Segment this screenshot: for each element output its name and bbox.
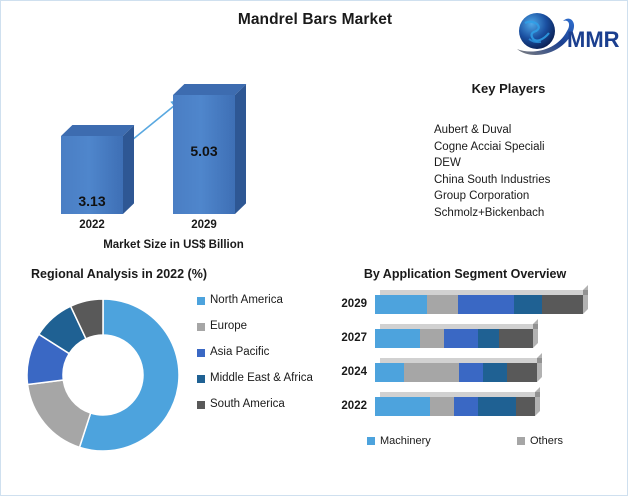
stacked-bar-year: 2022 [337,400,367,412]
bar-2022-value: 3.13 [61,193,123,209]
stacked-bar-segment-machinery [375,329,420,348]
stacked-bar-row: 2024 [337,359,623,393]
stacked-bar-segment-segment-4 [478,397,516,416]
stacked-bar-year: 2027 [337,332,367,344]
stacked-bar-segment-segment-3 [459,363,483,382]
stacked-bar-segment-segment-3 [458,295,515,314]
key-players-panel: Key Players Aubert & Duval Cogne Acciai … [396,81,621,221]
legend-label: Others [530,435,563,447]
stacked-bar-row: 2022 [337,393,623,427]
key-player-item: Group Corporation [434,188,621,205]
legend-label: Machinery [380,435,431,447]
stacked-bar-segment-machinery [375,397,430,416]
regional-legend: North America Europe Asia Pacific Middle… [197,293,327,423]
legend-label: North America [210,293,283,308]
bar-2022-year: 2022 [55,219,129,231]
stacked-bar-segment-segment-4 [483,363,507,382]
stacked-bar-segment-others [420,329,444,348]
bar-2029-value: 5.03 [173,143,235,159]
legend-item-europe: Europe [197,319,327,334]
legend-swatch-icon [197,323,205,331]
application-stacked-bars: 2029 2027 2024 2022 [337,291,623,427]
stacked-bar-track [375,329,533,348]
legend-label: Middle East & Africa [210,371,322,386]
stacked-bar-body [375,363,537,382]
stacked-bar-track [375,397,535,416]
stacked-bar-side-face [533,319,538,348]
stacked-bar-segment-segment-3 [444,329,478,348]
stacked-bar-segment-others [430,397,454,416]
regional-analysis-title: Regional Analysis in 2022 (%) [31,267,331,281]
stacked-bar-body [375,329,533,348]
legend-swatch-icon [197,297,205,305]
legend-item-machinery: Machinery [367,435,517,447]
key-player-item: Aubert & Duval [434,122,621,139]
legend-item-south-america: South America [197,397,327,412]
bar-2029-year: 2029 [167,219,241,231]
mmr-logo: MMR [511,9,619,61]
key-players-list: Aubert & Duval Cogne Acciai Speciali DEW… [396,122,621,221]
stacked-bar-track [375,363,537,382]
key-player-item: Schmolz+Bickenbach [434,205,621,222]
regional-analysis-panel: Regional Analysis in 2022 (%) North Amer… [31,267,331,281]
regional-donut-chart [19,291,187,459]
stacked-bar-segment-segment-5 [516,397,535,416]
legend-label: Asia Pacific [210,345,269,360]
key-player-item: China South Industries [434,172,621,189]
stacked-bar-body [375,397,535,416]
stacked-bar-row: 2029 [337,291,623,325]
stacked-bar-side-face [537,353,542,382]
stacked-bar-side-face [535,387,540,416]
stacked-bar-body [375,295,583,314]
legend-item-asia-pacific: Asia Pacific [197,345,327,360]
stacked-bar-segment-segment-5 [507,363,536,382]
legend-item-north-america: North America [197,293,327,308]
stacked-bar-year: 2024 [337,366,367,378]
stacked-bar-segment-others [404,363,459,382]
key-player-item: DEW [434,155,621,172]
donut-slice-europe [28,380,91,447]
stacked-bar-segment-segment-4 [478,329,499,348]
stacked-bar-segment-segment-5 [542,295,583,314]
legend-swatch-icon [197,375,205,383]
logo-text: MMR [567,27,619,52]
stacked-bar-segment-segment-4 [514,295,542,314]
legend-swatch-icon [517,437,525,445]
legend-label: Europe [210,319,247,334]
globe-icon: MMR [511,9,619,61]
application-segment-panel: By Application Segment Overview 2029 202… [337,267,623,281]
stacked-bar-side-face [583,285,588,314]
key-player-item: Cogne Acciai Speciali [434,139,621,156]
stacked-bar-row: 2027 [337,325,623,359]
infographic-canvas: Mandrel Bars Market MMR [0,0,628,496]
stacked-bar-segment-others [427,295,458,314]
key-players-title: Key Players [396,81,621,96]
legend-swatch-icon [367,437,375,445]
market-size-caption: Market Size in US$ Billion [41,239,306,251]
stacked-bar-year: 2029 [337,298,367,310]
application-segment-title: By Application Segment Overview [337,267,593,281]
application-legend: Machinery Others [367,435,623,447]
stacked-bar-segment-machinery [375,363,404,382]
stacked-bar-segment-machinery [375,295,427,314]
legend-item-others: Others [517,435,563,447]
stacked-bar-track [375,295,583,314]
stacked-bar-segment-segment-3 [454,397,478,416]
stacked-bar-segment-segment-5 [499,329,533,348]
market-size-chart: CAGR 7% 3.13 2022 5.03 2029 Market Size … [41,81,306,256]
legend-item-middle-east-africa: Middle East & Africa [197,371,327,386]
legend-swatch-icon [197,401,205,409]
legend-swatch-icon [197,349,205,357]
legend-label: South America [210,397,285,412]
